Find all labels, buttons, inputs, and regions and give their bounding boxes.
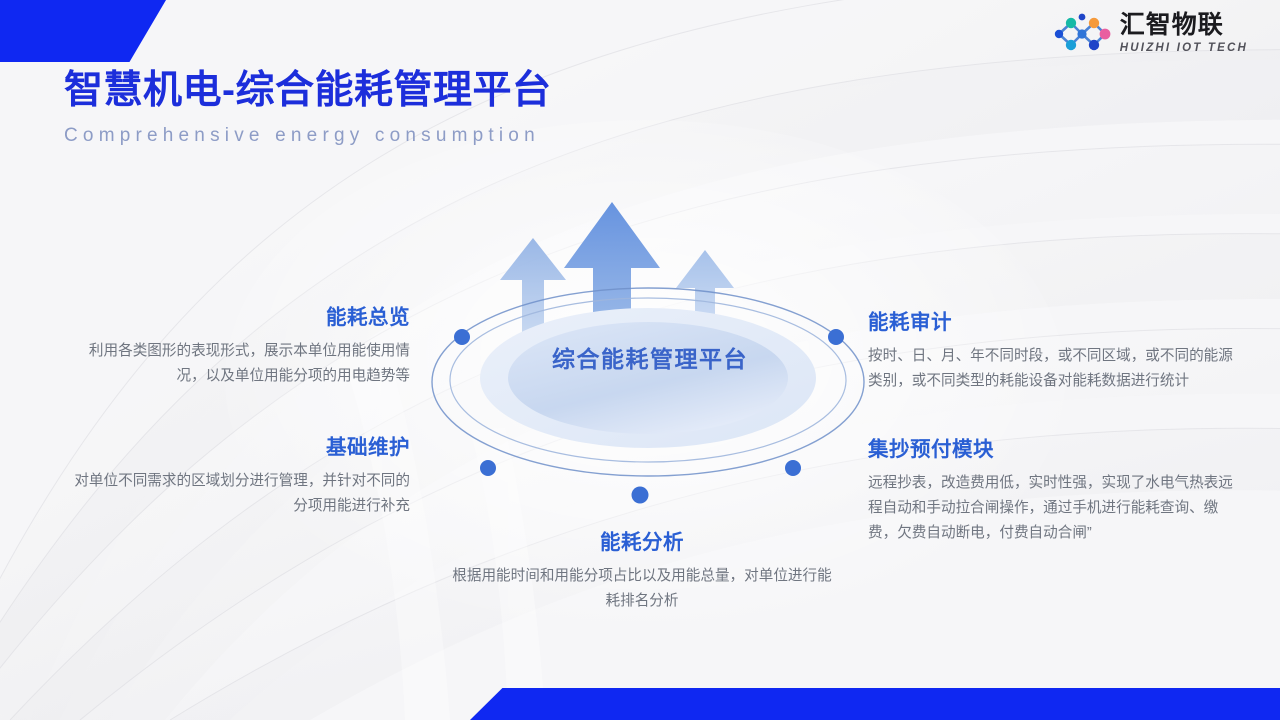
logo-text-group: 汇智物联 HUIZHI IOT TECH — [1120, 13, 1248, 55]
feature-maintenance: 基础维护 对单位不同需求的区域划分进行管理，并针对不同的分项用能进行补充 — [60, 430, 410, 519]
feature-audit-title: 能耗审计 — [868, 305, 1236, 335]
center-platform-label: 综合能耗管理平台 — [400, 340, 900, 374]
page-title: 智慧机电-综合能耗管理平台 — [64, 70, 552, 113]
feature-prepaid-title: 集抄预付模块 — [868, 432, 1236, 462]
bottom-right-blue-accent — [470, 688, 1280, 720]
feature-prepaid: 集抄预付模块 远程抄表，改造费用低，实时性强，实现了水电气热表远程自动和手动拉合… — [868, 432, 1236, 546]
logo-name-cn: 汇智物联 — [1120, 13, 1248, 38]
top-left-blue-accent — [0, 0, 166, 62]
platform-disc-inner — [508, 322, 788, 434]
feature-analysis-title: 能耗分析 — [452, 525, 832, 555]
feature-overview-title: 能耗总览 — [60, 300, 410, 330]
feature-analysis: 能耗分析 根据用能时间和用能分项占比以及用能总量，对单位进行能耗排名分析 — [452, 525, 832, 614]
page-title-block: 智慧机电-综合能耗管理平台 Comprehensive energy consu… — [64, 70, 552, 147]
feature-overview-body: 利用各类图形的表现形式，展示本单位用能使用情况，以及单位用能分项的用电趋势等 — [60, 339, 410, 389]
feature-audit: 能耗审计 按时、日、月、年不同时段，或不同区域，或不同的能源类别，或不同类型的耗… — [868, 305, 1236, 394]
logo-name-en: HUIZHI IOT TECH — [1120, 43, 1248, 55]
page-subtitle: Comprehensive energy consumption — [64, 125, 552, 147]
orbit-dot — [785, 460, 801, 476]
feature-overview: 能耗总览 利用各类图形的表现形式，展示本单位用能使用情况，以及单位用能分项的用电… — [60, 300, 410, 389]
orbit-dot — [632, 487, 649, 504]
brand-logo: 汇智物联 HUIZHI IOT TECH — [1051, 12, 1248, 56]
molecule-network-icon — [1051, 12, 1113, 56]
slide-root: 智慧机电-综合能耗管理平台 Comprehensive energy consu… — [0, 0, 1280, 720]
feature-audit-body: 按时、日、月、年不同时段，或不同区域，或不同的能源类别，或不同类型的耗能设备对能… — [868, 344, 1236, 394]
feature-maintenance-body: 对单位不同需求的区域划分进行管理，并针对不同的分项用能进行补充 — [60, 469, 410, 519]
feature-maintenance-title: 基础维护 — [60, 430, 410, 460]
feature-analysis-body: 根据用能时间和用能分项占比以及用能总量，对单位进行能耗排名分析 — [452, 564, 832, 614]
orbit-dot — [480, 460, 496, 476]
feature-prepaid-body: 远程抄表，改造费用低，实时性强，实现了水电气热表远程自动和手动拉合闸操作，通过手… — [868, 471, 1236, 546]
